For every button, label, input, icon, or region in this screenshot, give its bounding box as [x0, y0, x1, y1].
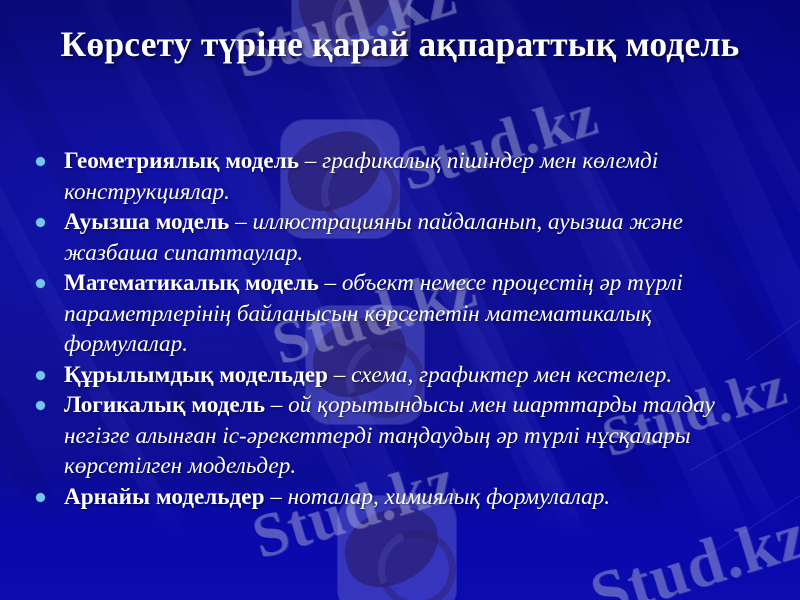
list-item-term: Геометриялық модель: [64, 148, 299, 174]
list-item-term: Арнайы модельдер: [64, 484, 264, 510]
list-item-separator: –: [328, 362, 351, 388]
bullet-point-icon: [36, 493, 45, 502]
list-item-term: Математикалық модель: [64, 270, 319, 296]
list-item-term: Ауызша модель: [64, 209, 229, 235]
list-item: Ауызша модель – иллюстрацияны пайдаланып…: [26, 207, 778, 268]
list-item-separator: –: [264, 484, 287, 510]
bullet-point-icon: [36, 401, 45, 410]
bullet-point-icon: [36, 279, 45, 288]
bullet-point-icon: [36, 218, 45, 227]
page-title: Көрсету түріне қарай ақпараттық модель: [34, 22, 766, 67]
list-item-separator: –: [229, 209, 252, 235]
list-item-description: ноталар, химиялық формулалар.: [288, 484, 610, 510]
list-item-separator: –: [299, 148, 322, 174]
list-item: Құрылымдық модельдер – схема, графиктер …: [26, 360, 778, 391]
list-item-separator: –: [265, 392, 288, 418]
list-item: Арнайы модельдер – ноталар, химиялық фор…: [26, 482, 778, 513]
list-item-description: схема, графиктер мен кестелер.: [351, 362, 672, 388]
slide-content: Көрсету түріне қарай ақпараттық модель Г…: [0, 0, 800, 600]
list-item: Логикалық модель – ой қорытындысы мен ша…: [26, 390, 778, 482]
list-item-term: Құрылымдық модельдер: [64, 362, 328, 388]
list-item: Геометриялық модель – графикалық пішінде…: [26, 146, 778, 207]
list-item-separator: –: [319, 270, 342, 296]
presentation-slide: Stud.kz Stud.kz Stud.kz Stud.kz Stud.kz …: [0, 0, 800, 600]
bullet-list: Геометриялық модель – графикалық пішінде…: [26, 146, 778, 512]
bullet-point-icon: [36, 371, 45, 380]
bullet-point-icon: [36, 157, 45, 166]
list-item-term: Логикалық модель: [64, 392, 265, 418]
list-item: Математикалық модель – объект немесе про…: [26, 268, 778, 360]
